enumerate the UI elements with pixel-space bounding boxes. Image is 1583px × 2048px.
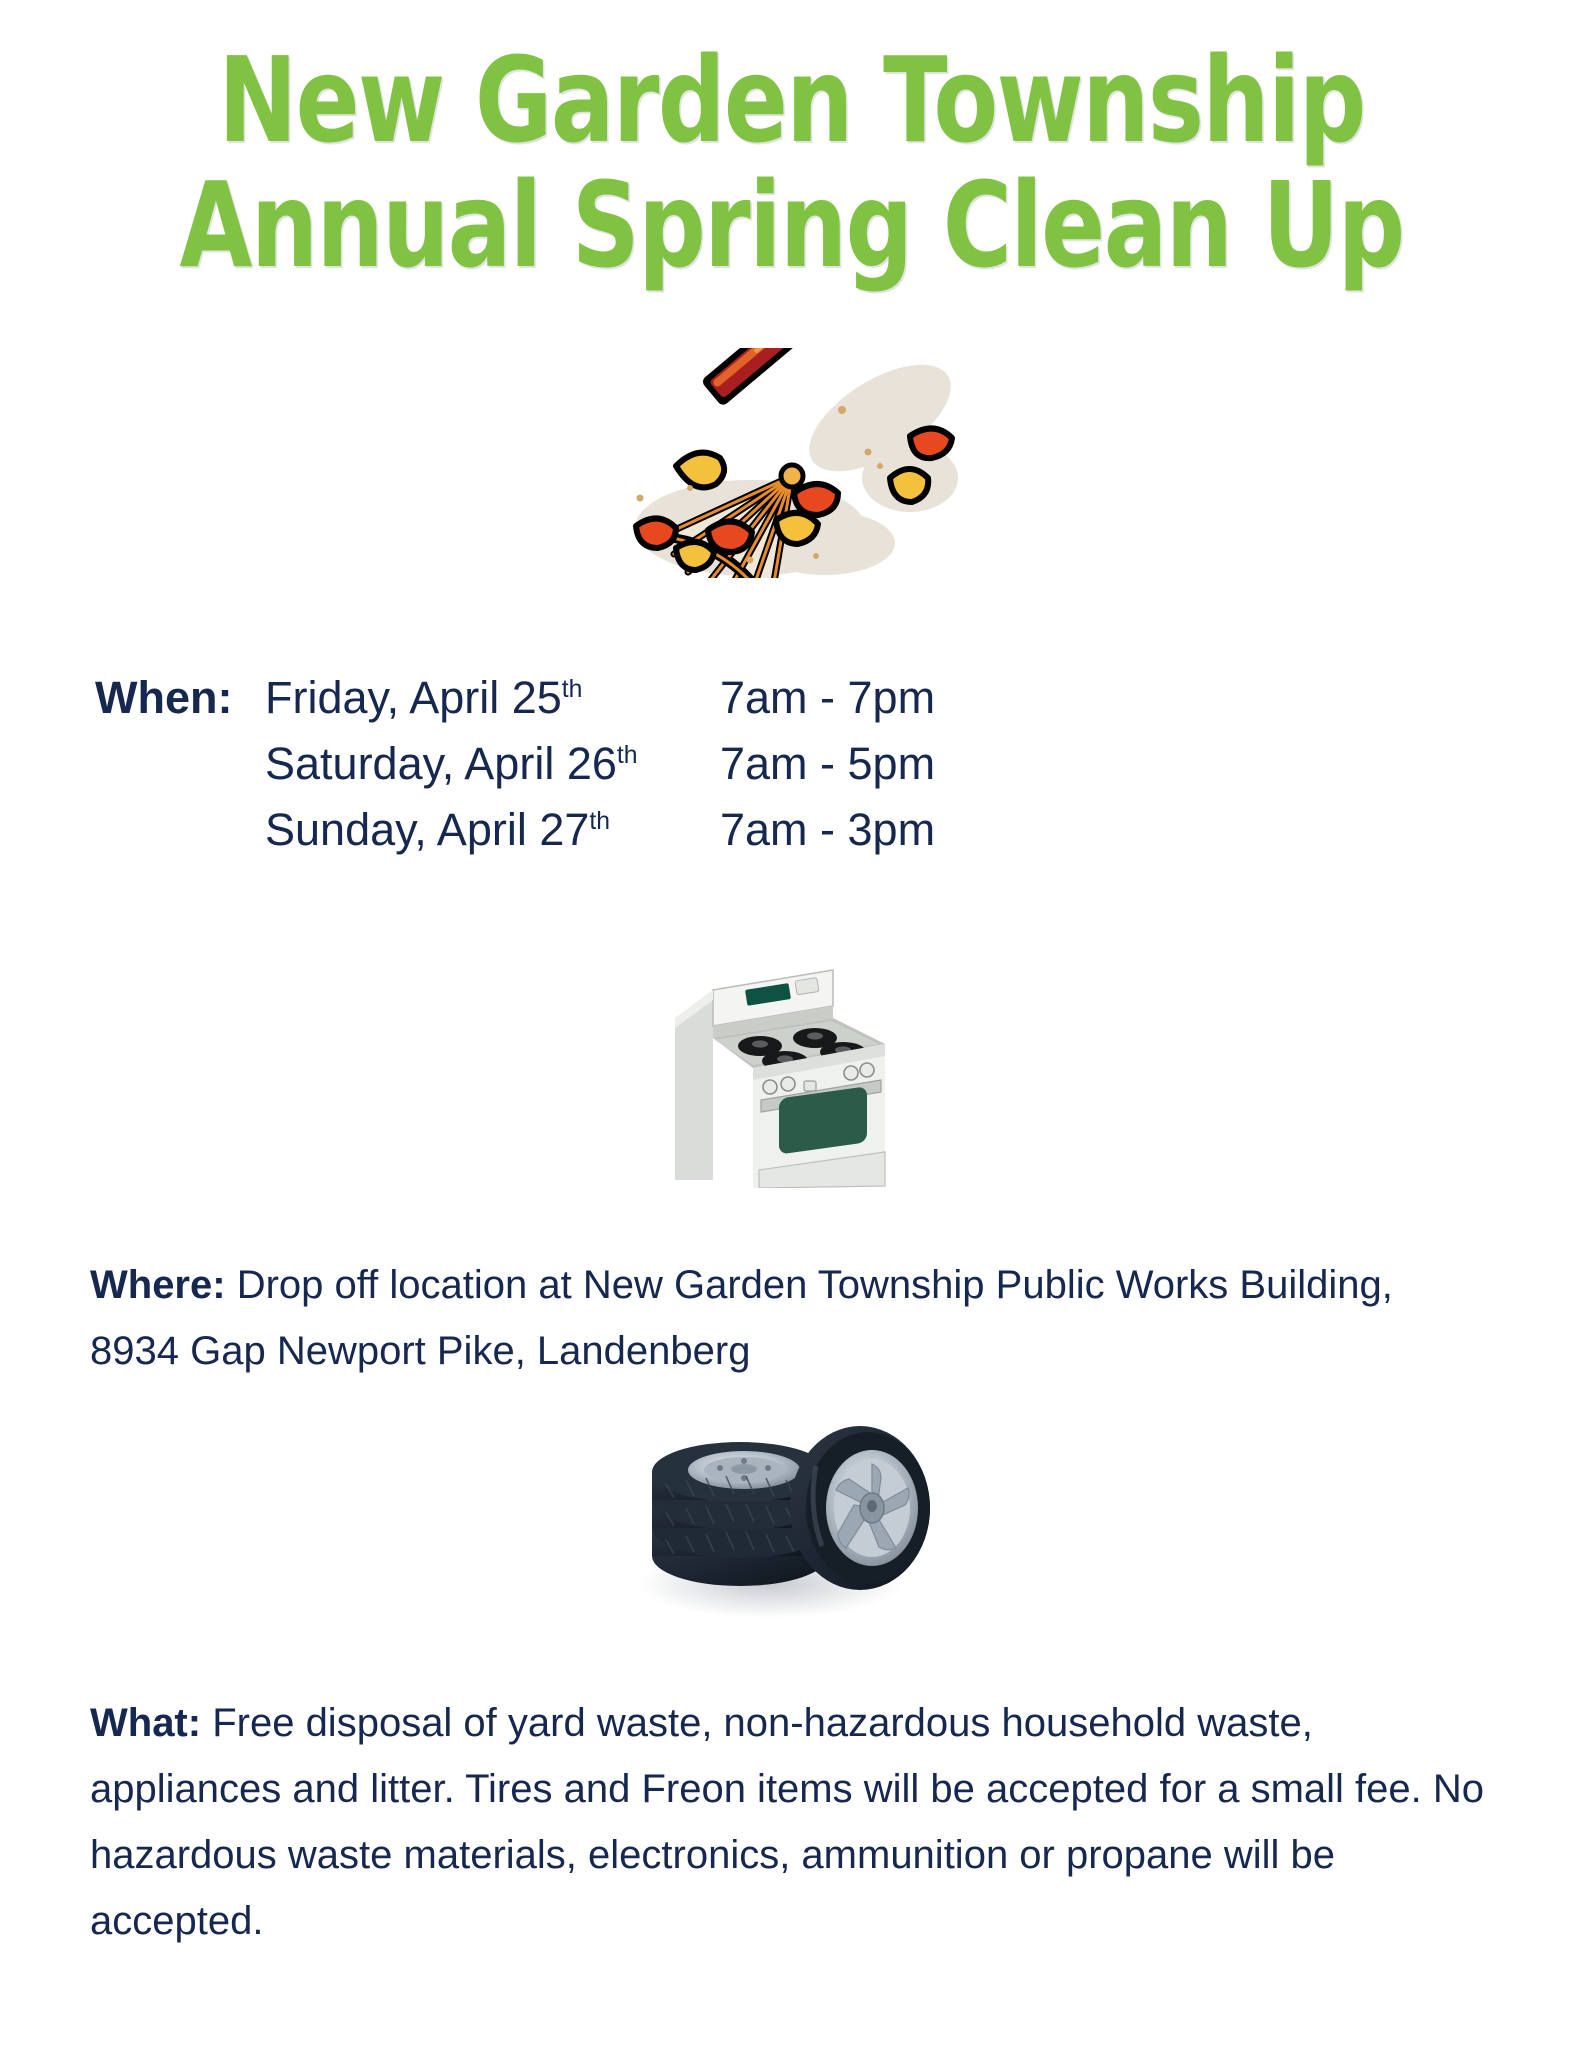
when-section: When: Friday, April 25th 7am - 7pm Satur… [95,672,935,870]
where-section: Where: Drop off location at New Garden T… [90,1252,1490,1384]
what-text: Free disposal of yard waste, non-hazardo… [90,1701,1484,1943]
when-date: Sunday, April 27th [265,804,720,856]
where-label: Where: [90,1263,226,1307]
when-date: Saturday, April 26th [265,738,720,790]
when-row: Saturday, April 26th 7am - 5pm [95,738,935,804]
when-date-ordinal: th [589,808,610,835]
when-date-ordinal: th [617,742,638,769]
page-title: New Garden Township Annual Spring Clean … [0,38,1583,288]
flyer-page: New Garden Township Annual Spring Clean … [0,0,1583,2048]
when-date: Friday, April 25th [265,672,720,724]
when-label: When: [95,672,265,724]
stacked-tires-icon [620,1388,950,1628]
when-date-text: Friday, April 25 [265,672,562,723]
what-label: What: [90,1701,201,1745]
when-row: Sunday, April 27th 7am - 3pm [95,804,935,870]
what-section: What: Free disposal of yard waste, non-h… [90,1690,1510,1954]
title-line-1: New Garden Township [158,38,1424,163]
kitchen-stove-icon [655,948,915,1188]
where-text: Drop off location at New Garden Township… [90,1263,1393,1373]
when-date-ordinal: th [562,676,583,703]
when-date-text: Saturday, April 26 [265,738,617,789]
leaf-rake-icon [580,348,980,578]
when-row: When: Friday, April 25th 7am - 7pm [95,672,935,738]
title-line-2: Annual Spring Clean Up [158,163,1424,288]
when-time: 7am - 3pm [720,804,935,856]
when-date-text: Sunday, April 27 [265,804,589,855]
when-time: 7am - 5pm [720,738,935,790]
when-time: 7am - 7pm [720,672,935,724]
